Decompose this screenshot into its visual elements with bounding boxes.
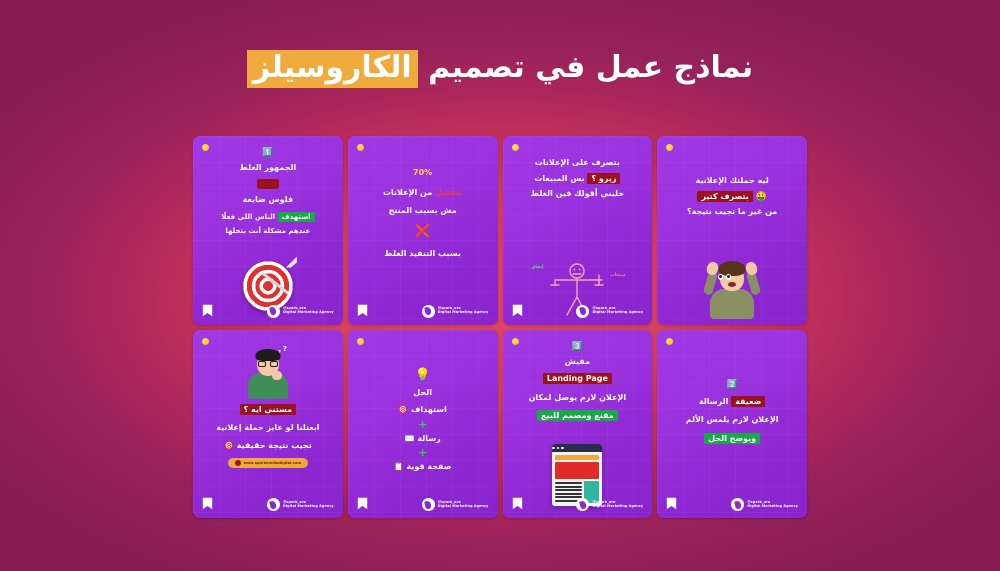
- card-line: مش بسبب المنتج: [389, 205, 457, 217]
- card-stat-value: 70%: [413, 167, 432, 179]
- card-line: بتفشل من الإعلانات: [383, 187, 462, 199]
- plus-icon: +: [418, 419, 427, 430]
- dartboard-illustration: [243, 261, 293, 311]
- card-line-text: الرسالة: [699, 397, 728, 406]
- card-line: ليه حملتك الإعلانية: [696, 175, 769, 187]
- card-line-text: من الإعلانات: [383, 188, 432, 197]
- carousel-card-stressed[interactable]: ليه حملتك الإعلانية 🤑 بتصرف كتير من غير …: [657, 136, 807, 325]
- card-line-highlight-text: بتصرف كتير: [697, 191, 752, 202]
- card-line-red-word: بتفشل: [435, 188, 462, 197]
- number-one-icon: 1️⃣: [262, 149, 273, 158]
- card-line-green-text: مقنع ومصمم للبيع: [537, 410, 618, 421]
- card-line: ضعيفة الرسالة: [699, 396, 765, 408]
- money-face-icon: 🤑: [756, 192, 767, 202]
- brand-tagline: Digital Marketing Agency: [283, 505, 334, 509]
- carousel-card-weak-message[interactable]: 2️⃣ ضعيفة الرسالة الإعلان لازم يلمس الأل…: [657, 330, 807, 519]
- card-line-highlight: مستني ايه ؟: [240, 404, 297, 416]
- scale-label-spend: إنفاق: [531, 265, 543, 270]
- carousel-grid: ليه حملتك الإعلانية 🤑 بتصرف كتير من غير …: [193, 136, 807, 518]
- number-three-icon: 3️⃣: [572, 343, 583, 352]
- card-line: الجمهور الغلط: [240, 162, 297, 174]
- page-header: نماذج عمل في تصميم الكاروسيلز: [0, 50, 1000, 88]
- brand-tagline: Digital Marketing Agency: [438, 505, 489, 509]
- card-line: خليني أقولك فين الغلط: [531, 188, 624, 200]
- question-mark-icon: ?: [283, 345, 287, 353]
- page-title: نماذج عمل في تصميم الكاروسيلز: [247, 50, 753, 88]
- status-dot-icon: [202, 144, 209, 151]
- page-title-prefix: نماذج عمل في تصميم: [428, 50, 753, 85]
- stressed-person-illustration: [706, 259, 758, 319]
- brand-tagline: Digital Marketing Agency: [283, 311, 334, 315]
- card-line: من غير ما تجيب نتيجة؟: [687, 206, 777, 218]
- flame-logo-icon: [576, 498, 589, 511]
- card-line-green: ويوضح الحل: [704, 433, 760, 445]
- brand-footer: @spark_ora Digital Marketing Agency: [731, 498, 798, 511]
- card-line: بسبب التنفيذ الغلط: [384, 248, 460, 260]
- brand-tagline: Digital Marketing Agency: [592, 311, 643, 315]
- card-line-highlight-text: زيرو ؟: [587, 173, 620, 184]
- flame-logo-icon: [267, 498, 280, 511]
- carousel-card-solution[interactable]: 💡 الحل استهداف 🎯 + رسالة ✉️ + صفحة قوية …: [348, 330, 498, 519]
- brand-footer: @spark_ora Digital Marketing Agency: [267, 498, 334, 511]
- card-line-green-text: ويوضح الحل: [704, 433, 760, 444]
- scale-label-sales: مبيعات: [610, 273, 625, 278]
- flame-logo-icon: [267, 305, 280, 318]
- status-dot-icon: [357, 338, 364, 345]
- website-url-button[interactable]: www.sparkmediadigital.com: [228, 458, 309, 468]
- card-line: عندهم مشكلة أنت بتحلها: [225, 227, 310, 237]
- website-url-text: www.sparkmediadigital.com: [244, 461, 302, 465]
- brand-footer: @spark_ora Digital Marketing Agency: [267, 305, 334, 318]
- plus-icon: +: [418, 447, 427, 458]
- flame-logo-icon: [422, 305, 435, 318]
- card-line: تجيب نتيجة حقيقية 🎯: [224, 440, 312, 452]
- brand-footer: @spark_ora Digital Marketing Agency: [422, 305, 489, 318]
- carousel-card-landing-page[interactable]: 3️⃣ مفيش Landing Page الإعلان لازم يوصل …: [503, 330, 653, 519]
- bookmark-icon[interactable]: [666, 497, 677, 510]
- card-line-text: بس المبيعات: [534, 174, 584, 183]
- carousel-card-zero-sales[interactable]: بتصرف على الإعلانات زيرو ؟ بس المبيعات خ…: [503, 136, 653, 325]
- card-line-highlight: زيرو ؟ بس المبيعات: [534, 173, 620, 185]
- carousel-card-70-percent[interactable]: 70% بتفشل من الإعلانات مش بسبب المنتج ❌ …: [348, 136, 498, 325]
- card-line: رسالة ✉️: [405, 433, 441, 445]
- brand-tagline: Digital Marketing Agency: [747, 505, 798, 509]
- carousel-card-cta[interactable]: ? ? مستني ايه ؟ ابعتلنا لو عايز حملة إعل…: [193, 330, 343, 519]
- card-line-green: مقنع ومصمم للبيع: [537, 410, 618, 422]
- card-line-highlight-text: ضعيفة: [731, 396, 765, 407]
- bookmark-icon[interactable]: [512, 304, 523, 317]
- bookmark-icon[interactable]: [202, 497, 213, 510]
- bookmark-icon[interactable]: [202, 304, 213, 317]
- globe-icon: [235, 460, 241, 466]
- brand-footer: @spark_ora Digital Marketing Agency: [576, 305, 643, 318]
- brand-tagline: Digital Marketing Agency: [592, 505, 643, 509]
- bookmark-icon[interactable]: [357, 304, 368, 317]
- status-dot-icon: [202, 338, 209, 345]
- landing-page-mock-illustration: [552, 444, 602, 506]
- number-two-icon: 2️⃣: [727, 381, 738, 390]
- page-title-highlight: الكاروسيلز: [247, 50, 418, 88]
- thinking-person-illustration: ? ?: [245, 345, 291, 399]
- flame-logo-icon: [422, 498, 435, 511]
- carousel-card-wrong-audience[interactable]: 1️⃣ الجمهور الغلط فلوس ضايعة استهدف النا…: [193, 136, 343, 325]
- status-dot-icon: [666, 338, 673, 345]
- lightbulb-icon: 💡: [415, 369, 431, 382]
- brand-footer: @spark_ora Digital Marketing Agency: [576, 498, 643, 511]
- cta-headline: مستني ايه ؟: [240, 404, 297, 415]
- card-line-highlight: Landing Page: [543, 373, 612, 385]
- red-badge: [257, 179, 279, 189]
- flame-logo-icon: [576, 305, 589, 318]
- card-line: الحل: [413, 387, 432, 399]
- card-line: الإعلان لازم يوصل لمكان: [529, 392, 627, 404]
- brand-tagline: Digital Marketing Agency: [438, 311, 489, 315]
- card-line-text: الناس اللي فعلًا: [221, 213, 275, 221]
- card-line-highlight: 🤑 بتصرف كتير: [697, 191, 766, 203]
- flame-logo-icon: [731, 498, 744, 511]
- card-line: فلوس ضايعة: [243, 194, 293, 206]
- status-dot-icon: [512, 338, 519, 345]
- card-line: مفيش: [565, 356, 590, 368]
- brand-footer: @spark_ora Digital Marketing Agency: [422, 498, 489, 511]
- status-dot-icon: [357, 144, 364, 151]
- card-line: استهدف الناس اللي فعلًا: [221, 213, 314, 223]
- card-line: بتصرف على الإعلانات: [535, 157, 620, 169]
- bookmark-icon[interactable]: [512, 497, 523, 510]
- landing-page-label: Landing Page: [543, 373, 612, 384]
- status-dot-icon: [512, 144, 519, 151]
- card-line: استهداف 🎯: [398, 404, 447, 416]
- card-line: صفحة قوية 📋: [394, 461, 452, 473]
- cross-mark-icon: ❌: [415, 225, 431, 238]
- card-line-green-word: استهدف: [278, 212, 315, 222]
- bookmark-icon[interactable]: [357, 497, 368, 510]
- card-line: الإعلان لازم يلمس الألم: [686, 414, 779, 426]
- card-line: ابعتلنا لو عايز حملة إعلانية: [216, 422, 319, 434]
